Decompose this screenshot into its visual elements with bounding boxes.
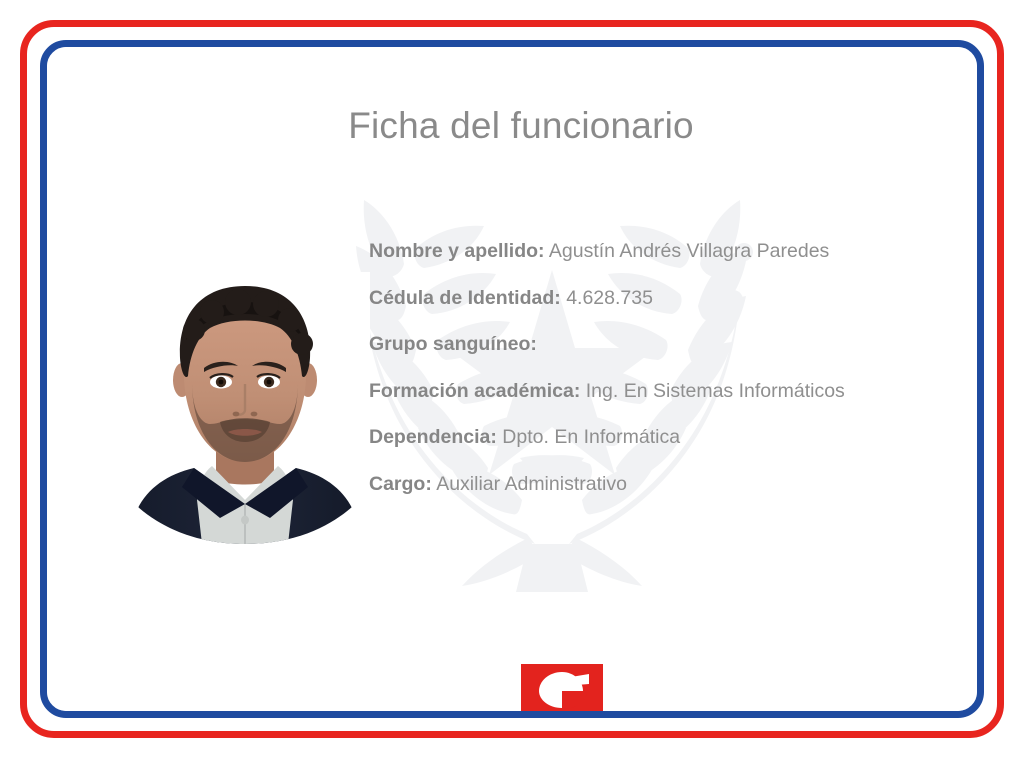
detail-row: Formación académica: Ing. En Sistemas In… [369, 382, 959, 402]
detail-label-cedula-de-identidad: Cédula de Identidad [369, 287, 554, 309]
detail-row: Nombre y apellido: Agustín Andrés Villag… [369, 242, 959, 262]
conatel-logo: CONATEL [521, 664, 603, 711]
conatel-logo-mark [521, 664, 603, 711]
page-title: Ficha del funcionario [47, 105, 977, 147]
satellite-dish-icon [521, 664, 603, 711]
page-title-text: Ficha del funcionario [330, 105, 694, 147]
detail-label-nombre-y-apellido: Nombre y apellido [369, 240, 538, 262]
detail-value-formacion-academica: Ing. En Sistemas Informáticos [586, 380, 845, 402]
detail-row: Dependencia: Dpto. En Informática [369, 428, 959, 448]
detail-row: Cargo: Auxiliar Administrativo [369, 475, 959, 495]
detail-label-formacion-academica: Formación académica [369, 380, 574, 402]
detail-separator: : [530, 333, 537, 355]
employee-card: Ficha del funcionario [47, 47, 977, 711]
employee-photo [120, 272, 370, 557]
detail-separator: : [574, 380, 581, 402]
detail-row: Cédula de Identidad: 4.628.735 [369, 289, 959, 309]
detail-label-dependencia: Dependencia [369, 426, 490, 448]
detail-label-cargo: Cargo [369, 473, 425, 495]
detail-separator: : [554, 287, 561, 309]
employee-photo-image [120, 272, 370, 557]
detail-value-cargo: Auxiliar Administrativo [436, 473, 627, 495]
slide-canvas: Ficha del funcionario [0, 0, 1024, 768]
detail-separator: : [425, 473, 432, 495]
detail-value-cedula-de-identidad: 4.628.735 [566, 287, 653, 309]
detail-value-nombre-y-apellido: Agustín Andrés Villagra Paredes [549, 240, 829, 262]
detail-row: Grupo sanguíneo: [369, 335, 959, 355]
employee-details: Nombre y apellido: Agustín Andrés Villag… [369, 242, 959, 521]
detail-label-grupo-sanguineo: Grupo sanguíneo [369, 333, 530, 355]
detail-separator: : [538, 240, 545, 262]
detail-value-dependencia: Dpto. En Informática [502, 426, 680, 448]
detail-separator: : [490, 426, 497, 448]
